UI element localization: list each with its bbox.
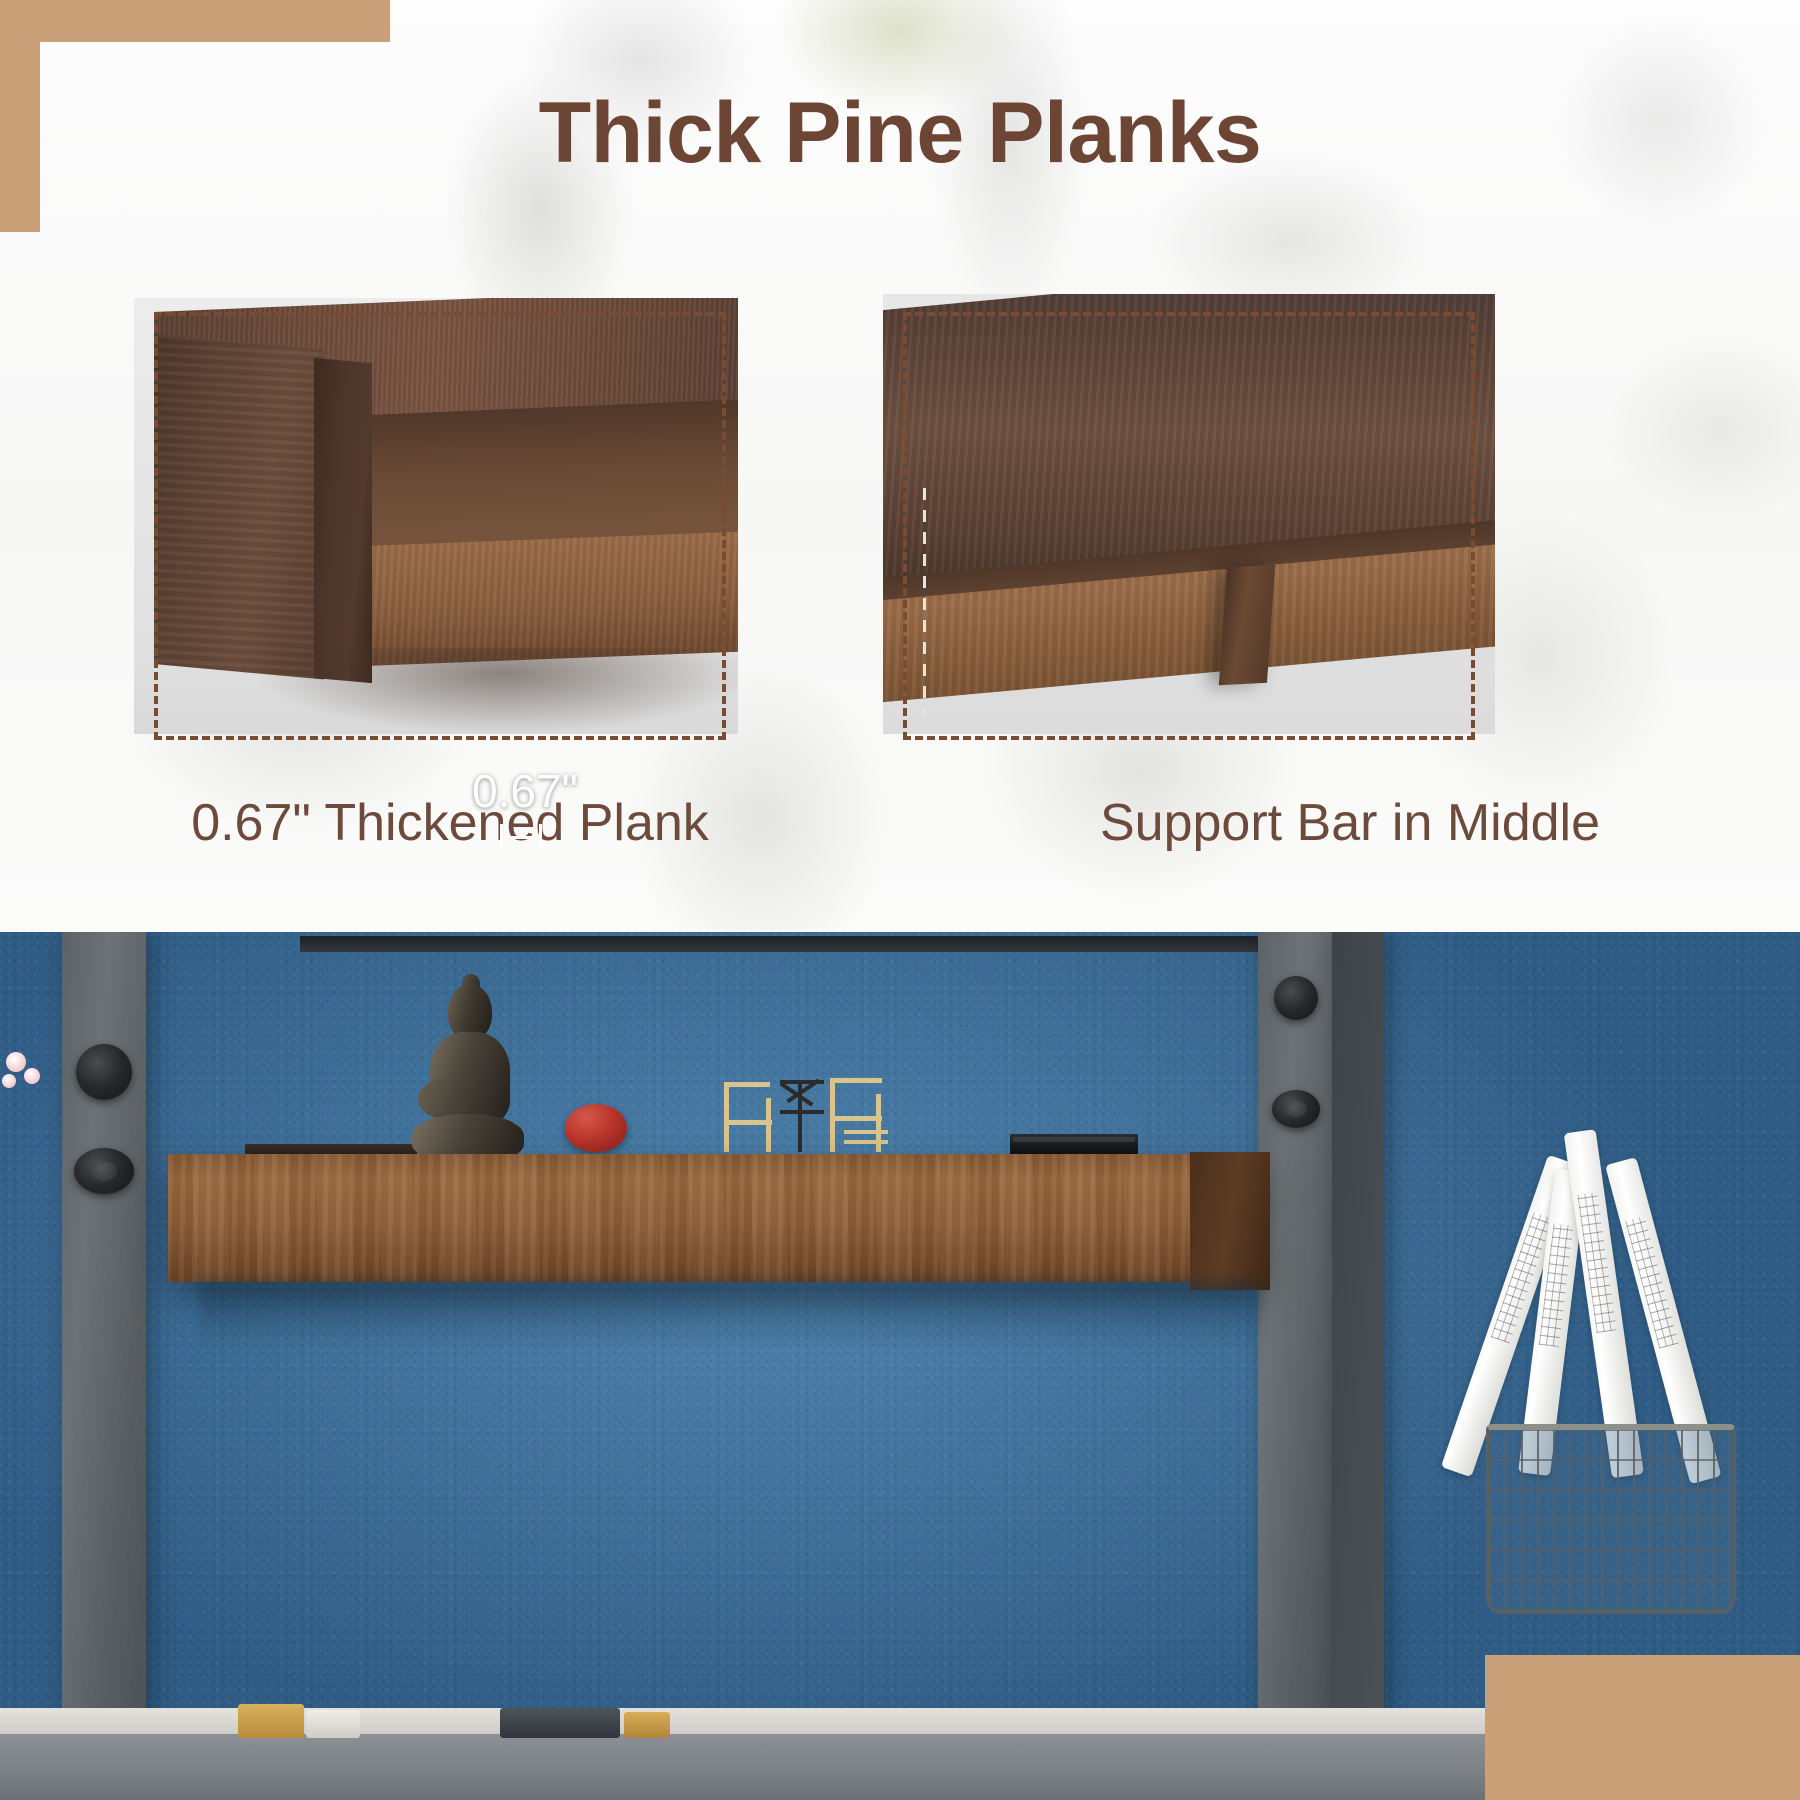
floor-box-white <box>306 1710 360 1738</box>
feature-caption-support-bar: Support Bar in Middle <box>900 793 1800 853</box>
top-feature-panel: Thick Pine Planks 0.67" <box>0 0 1800 930</box>
plank-drop-shadow <box>254 648 738 734</box>
corner-decoration-bottom-right <box>1485 1655 1800 1800</box>
shelf-wall-shadow <box>200 1280 1260 1350</box>
photo-guide-dashline <box>923 488 926 714</box>
plank-thickness-photo <box>134 298 738 734</box>
shelf-end-cap <box>1190 1152 1270 1290</box>
feature-photo-thickened-plank: 0.67" <box>154 312 726 740</box>
feature-photo-support-bar <box>903 312 1475 740</box>
dimension-arrow-icon <box>500 824 542 850</box>
cherry-blossom-icon <box>2 1074 16 1088</box>
wire-basket <box>1486 1424 1736 1614</box>
floor-box-yellow <box>624 1712 670 1738</box>
buddha-statue <box>404 984 526 1160</box>
product-feature-poster: Thick Pine Planks 0.67" <box>0 0 1800 1800</box>
book-on-shelf <box>1010 1134 1138 1156</box>
corner-decoration-top <box>0 0 390 42</box>
red-egg-ornament <box>565 1104 627 1152</box>
plank-thickness-edge <box>314 358 372 683</box>
cherry-blossom-icon <box>24 1068 40 1084</box>
speaker-driver-icon <box>1274 976 1318 1020</box>
feature-caption-thickened-plank: 0.67" Thickened Plank <box>0 793 900 853</box>
floor-box-yellow <box>238 1704 304 1738</box>
cherry-blossom-icon <box>6 1052 26 1072</box>
plank-end-grain-face <box>154 334 324 679</box>
wall-post-right <box>1258 932 1332 1800</box>
dimension-label: 0.67" <box>472 764 578 818</box>
speaker-woofer-icon <box>74 1148 134 1194</box>
ceiling-rail <box>300 936 1280 952</box>
page-title: Thick Pine Planks <box>0 88 1800 178</box>
floor-box-dark <box>500 1708 620 1738</box>
center-support-bar <box>1219 565 1275 686</box>
support-bar-photo <box>883 294 1495 734</box>
speaker-driver-icon <box>76 1044 132 1100</box>
speaker-woofer-icon <box>1272 1090 1320 1128</box>
wall-post-left <box>62 932 146 1800</box>
floating-wood-shelf <box>168 1154 1266 1282</box>
wall-post-right-inner <box>1332 932 1384 1800</box>
wire-chair-sculpture <box>718 1072 906 1160</box>
